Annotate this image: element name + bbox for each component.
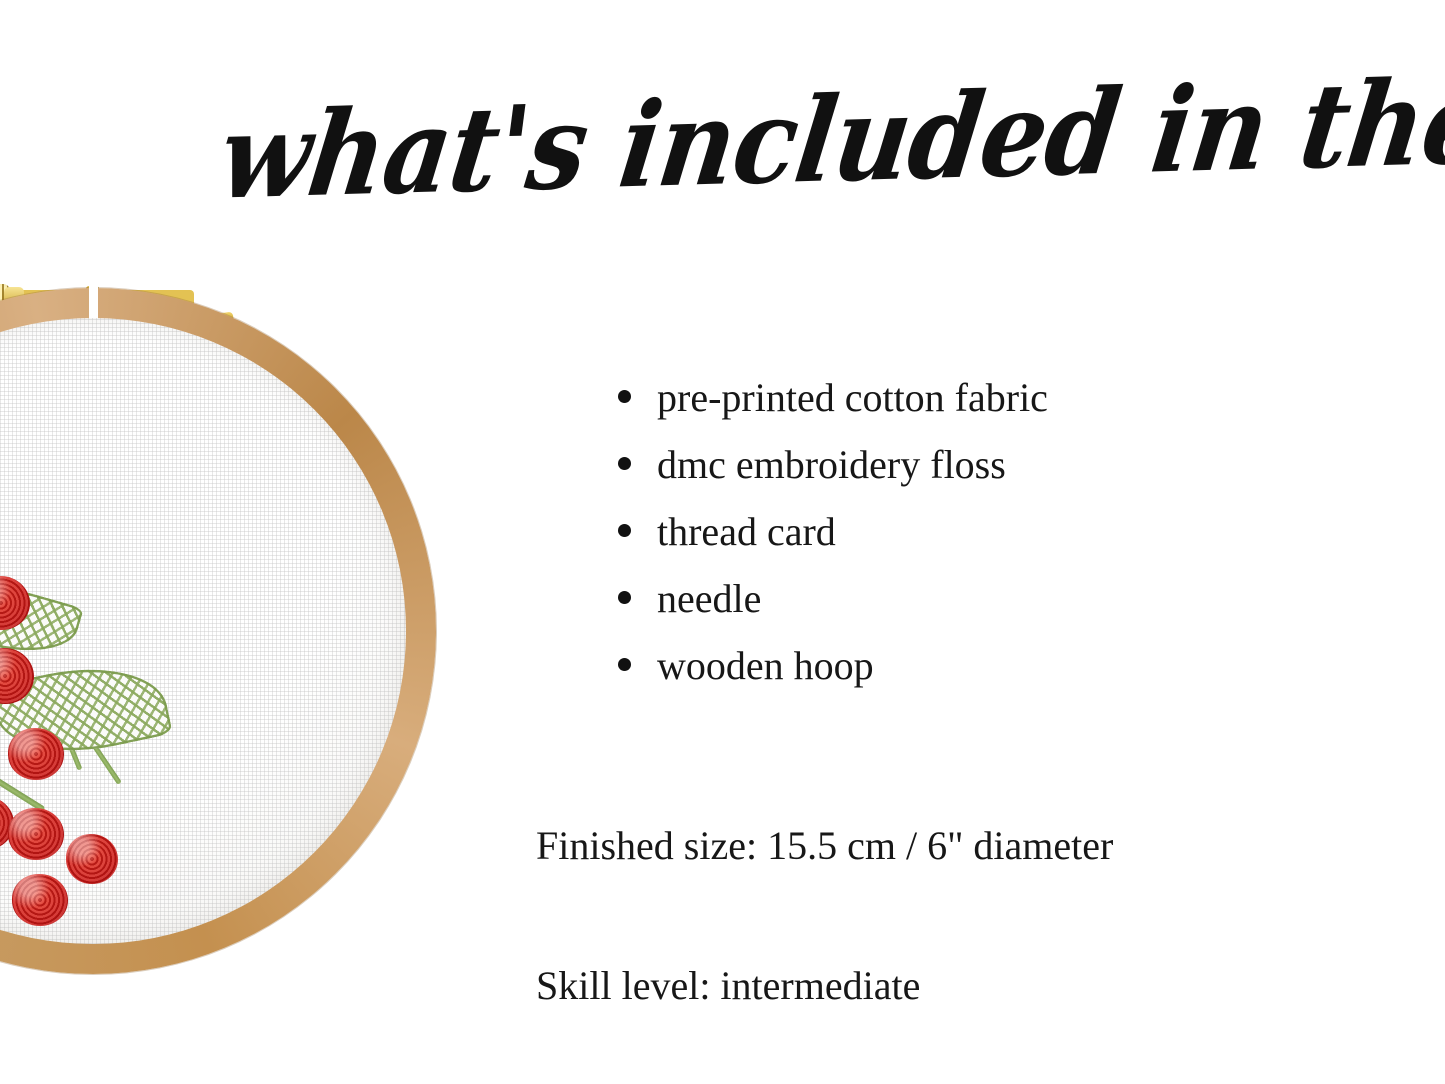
product-photo xyxy=(0,218,440,978)
list-item-label: needle xyxy=(657,579,761,619)
list-item-label: thread card xyxy=(657,512,836,552)
list-item: dmc embroidery floss xyxy=(618,445,1318,512)
list-item: needle xyxy=(618,579,1318,646)
kit-contents-list: pre-printed cotton fabric dmc embroidery… xyxy=(618,378,1318,713)
bullet-dot-icon xyxy=(618,457,631,470)
list-item-label: dmc embroidery floss xyxy=(657,445,1006,485)
finished-size-text: Finished size: 15.5 cm / 6" diameter xyxy=(536,826,1113,866)
list-item: wooden hoop xyxy=(618,646,1318,713)
bullet-dot-icon xyxy=(618,524,631,537)
product-listing-image: what's included in the kit? xyxy=(0,0,1445,1084)
berry-10 xyxy=(66,834,118,884)
berry-11 xyxy=(12,874,68,926)
list-item-label: pre-printed cotton fabric xyxy=(657,378,1048,418)
list-item: pre-printed cotton fabric xyxy=(618,378,1318,445)
bullet-dot-icon xyxy=(618,390,631,403)
bullet-dot-icon xyxy=(618,591,631,604)
skill-level-text: Skill level: intermediate xyxy=(536,966,920,1006)
bullet-dot-icon xyxy=(618,658,631,671)
berry-9 xyxy=(8,808,64,860)
list-item-label: wooden hoop xyxy=(657,646,874,686)
list-item: thread card xyxy=(618,512,1318,579)
berry-4 xyxy=(8,728,64,780)
